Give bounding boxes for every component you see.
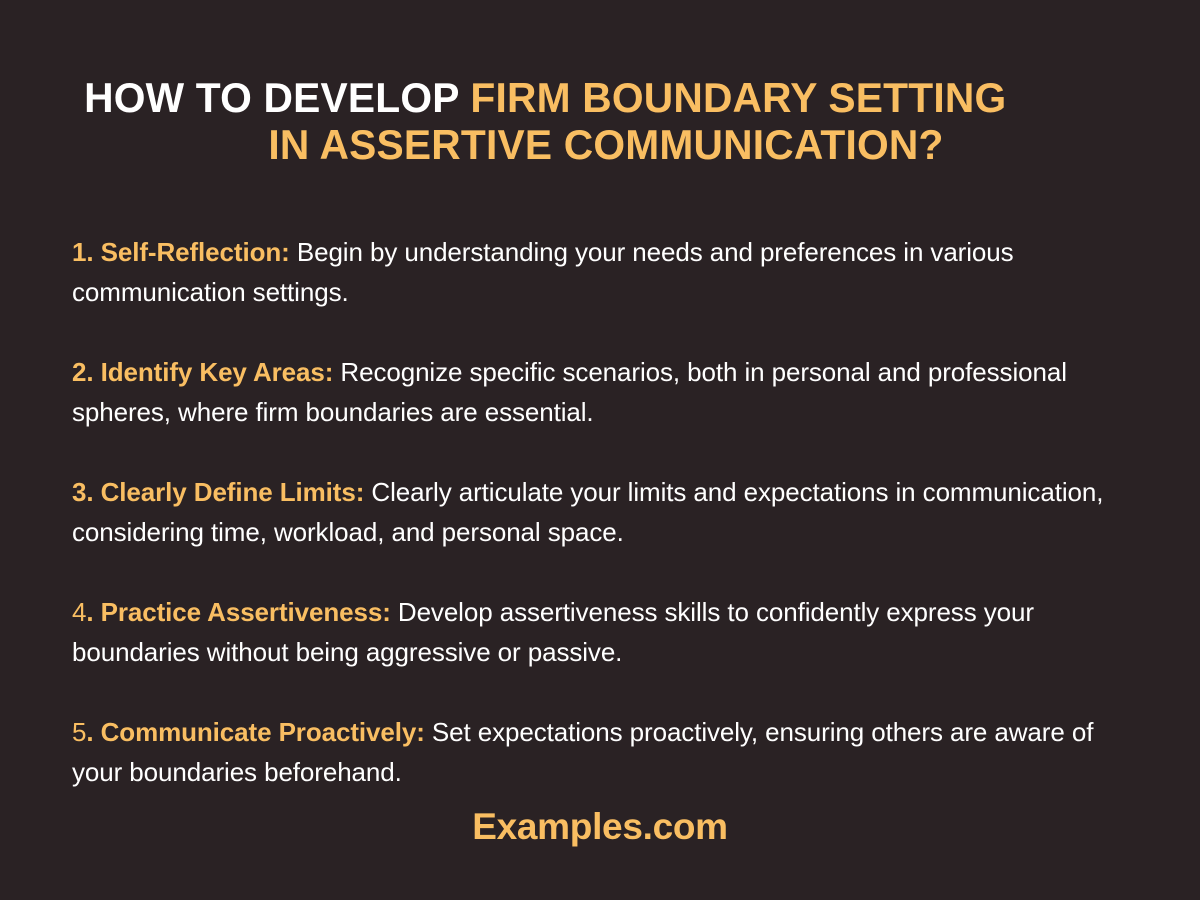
list-item-number: 5 [72, 717, 86, 747]
infographic-poster: HOW TO DEVELOP FIRM BOUNDARY SETTING IN … [0, 0, 1200, 900]
footer: Examples.com [0, 806, 1200, 848]
list-item: 1. Self-Reflection: Begin by understandi… [72, 232, 1132, 312]
list-item-number: 4 [72, 597, 86, 627]
list-item-label: Clearly Define Limits: [101, 477, 365, 507]
list-item-dot: . [86, 477, 100, 507]
title-line-1: HOW TO DEVELOP FIRM BOUNDARY SETTING [84, 74, 1128, 121]
list-item-label: Practice Assertiveness: [101, 597, 391, 627]
list-item-dot: . [86, 357, 100, 387]
title-part-accent-2: IN ASSERTIVE COMMUNICATION? [268, 121, 943, 168]
list-item-label: Identify Key Areas: [101, 357, 334, 387]
title-part-white: HOW TO DEVELOP [84, 74, 470, 121]
list-item: 3. Clearly Define Limits: Clearly articu… [72, 472, 1132, 552]
list-item-dot: . [86, 597, 100, 627]
title-part-accent: FIRM BOUNDARY SETTING [470, 74, 1006, 121]
list-item-label: Communicate Proactively: [101, 717, 425, 747]
page-title: HOW TO DEVELOP FIRM BOUNDARY SETTING IN … [68, 74, 1144, 168]
list-item-number: 1 [72, 237, 86, 267]
list-item-label: Self-Reflection: [101, 237, 290, 267]
list-item: 4. Practice Assertiveness: Develop asser… [72, 592, 1132, 672]
brand-logo: Examples.com [472, 806, 728, 848]
list-item-dot: . [86, 237, 100, 267]
list-item-number: 3 [72, 477, 86, 507]
list-item: 2. Identify Key Areas: Recognize specifi… [72, 352, 1132, 432]
list-item-number: 2 [72, 357, 86, 387]
list-item-dot: . [86, 717, 100, 747]
list-item: 5. Communicate Proactively: Set expectat… [72, 712, 1132, 792]
title-line-2: IN ASSERTIVE COMMUNICATION? [84, 121, 1128, 168]
steps-list: 1. Self-Reflection: Begin by understandi… [72, 206, 1132, 792]
